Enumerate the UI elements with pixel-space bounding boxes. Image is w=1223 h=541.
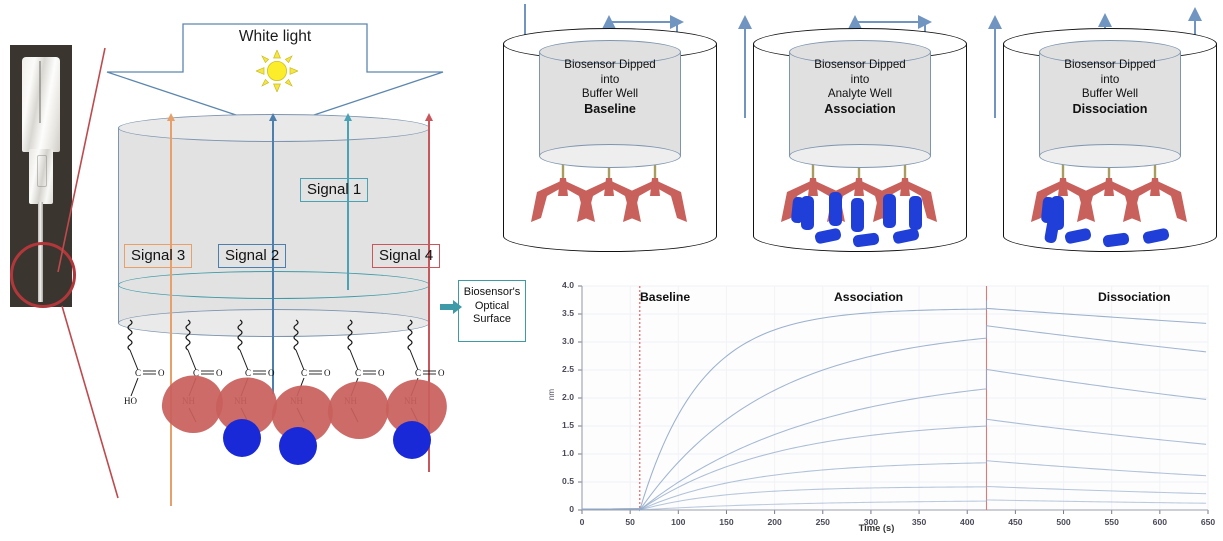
arrow-head-icon [344,113,352,121]
x-tick-label: 50 [617,517,643,527]
assay-wells-diagram: Biosensor DippedintoBuffer WellBaselineB… [495,0,1223,272]
well-caption-line3: Analyte Well [783,87,937,102]
antibody-4 [272,386,333,465]
well-2: Biosensor DippedintoAnalyte WellAssociat… [753,28,967,258]
antibody-3 [216,378,277,457]
x-tick-label: 650 [1195,517,1221,527]
svg-text:O: O [378,368,385,378]
x-tick-label: 200 [762,517,788,527]
well-caption-line1: Biosensor Dipped [1033,58,1187,73]
antigen-sphere [393,421,431,459]
svg-text:O: O [268,368,275,378]
svg-text:C: C [135,368,141,378]
well-caption-3: Biosensor DippedintoBuffer WellDissociat… [1033,58,1187,117]
antibody-5 [328,382,389,440]
optical-surface-callout: Biosensor's Optical Surface [458,280,526,342]
callout-line-2: Optical [459,300,525,314]
surface-chemistry: COHOCONHCONHCONHCONHCONH [100,318,490,508]
x-tick-label: 150 [713,517,739,527]
antigen-sphere [279,427,317,465]
well-phase-label: Association [783,102,937,118]
x-tick-label: 550 [1099,517,1125,527]
y-tick-label: 4.0 [548,280,574,290]
sensor-bottom [1039,144,1181,168]
arrow-head-icon [269,113,277,121]
probe-tip-highlight-circle [10,242,76,308]
probe-collar [29,149,53,204]
callout-line-3: Surface [459,313,525,327]
sun-icon [256,50,298,92]
probe-hub [22,57,60,152]
well-caption-2: Biosensor DippedintoAnalyte WellAssociat… [783,58,937,117]
well-caption-line3: Buffer Well [1033,87,1187,102]
arrow-head-icon [167,113,175,121]
well-3: Biosensor DippedintoBuffer WellDissociat… [1003,28,1217,258]
signal-arrow-3 [347,120,349,290]
sensor-bottom [539,144,681,168]
x-tick-label: 400 [954,517,980,527]
well-phase-label: Dissociation [1033,102,1187,118]
well-caption-line2: into [783,73,937,88]
svg-text:C: C [355,368,361,378]
arrow-head-icon [425,113,433,121]
svg-text:HO: HO [124,396,137,406]
x-tick-label: 0 [569,517,595,527]
callout-line-1: Biosensor's [459,286,525,300]
sensorgram-chart: Biosensor's Optical Surface nm Time (s) … [530,272,1223,541]
signal-label-3: Signal 1 [300,178,368,202]
sensorgram-plot-area [530,272,1223,541]
y-tick-label: 0.5 [548,476,574,486]
y-tick-label: 2.0 [548,392,574,402]
well-caption-1: Biosensor DippedintoBuffer WellBaseline [533,58,687,117]
y-tick-label: 1.5 [548,420,574,430]
svg-text:O: O [216,368,223,378]
x-tick-label: 450 [1002,517,1028,527]
well-phase-label: Baseline [533,102,687,118]
optical-surface-schematic: White light Signal 3Signal 2Signal 1S [100,0,490,541]
signal-label-4: Signal 4 [372,244,440,268]
well-caption-line3: Buffer Well [533,87,687,102]
x-tick-label: 100 [665,517,691,527]
svg-text:O: O [324,368,331,378]
antibody-2 [162,376,223,434]
svg-text:C: C [245,368,251,378]
svg-text:C: C [415,368,421,378]
well-caption-line1: Biosensor Dipped [783,58,937,73]
sensor-bottom [789,144,931,168]
x-tick-label: 600 [1147,517,1173,527]
y-tick-label: 2.5 [548,364,574,374]
signal-label-2: Signal 2 [218,244,286,268]
y-tick-label: 3.5 [548,308,574,318]
chem-unit-1: COHO [124,320,165,406]
y-tick-label: 3.0 [548,336,574,346]
x-tick-label: 250 [810,517,836,527]
x-tick-label: 350 [906,517,932,527]
y-tick-label: 0 [548,504,574,514]
chart-phase-label-1: Baseline [640,290,690,304]
well-caption-line1: Biosensor Dipped [533,58,687,73]
chart-phase-label-3: Dissociation [1098,290,1170,304]
white-light-label: White light [210,28,340,46]
chart-phase-label-2: Association [834,290,903,304]
svg-text:O: O [438,368,445,378]
svg-text:O: O [158,368,165,378]
signal-label-1: Signal 3 [124,244,192,268]
svg-text:C: C [301,368,307,378]
well-caption-line2: into [533,73,687,88]
x-tick-label: 300 [858,517,884,527]
well-caption-line2: into [1033,73,1187,88]
antigen-sphere [223,419,261,457]
y-tick-label: 1.0 [548,448,574,458]
well-1: Biosensor DippedintoBuffer WellBaseline [503,28,717,258]
figure-canvas: White light Signal 3Signal 2Signal 1S [0,0,1223,541]
optical-layer-cylinder [110,114,440,339]
antibody-6 [386,380,447,459]
x-tick-label: 500 [1051,517,1077,527]
callout-pointer-arrow [440,300,462,314]
